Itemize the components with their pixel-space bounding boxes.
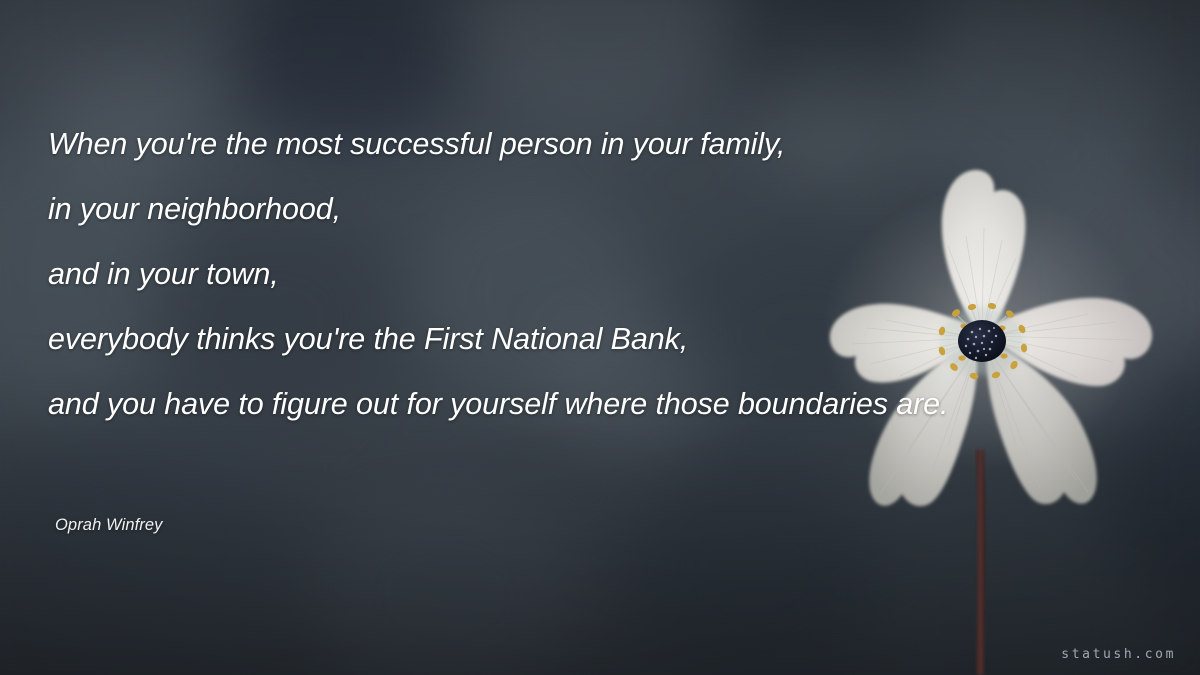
quote-card: When you're the most successful person i… (0, 0, 1200, 675)
quote-author: Oprah Winfrey (55, 516, 163, 535)
quote-line: When you're the most successful person i… (48, 112, 1168, 177)
site-watermark: statush.com (1061, 647, 1176, 662)
quote-line: everybody thinks you're the First Nation… (48, 307, 1168, 372)
quote-line: in your neighborhood, (48, 177, 1168, 242)
quote-line: and you have to figure out for yourself … (48, 372, 1168, 437)
quote-text-block: When you're the most successful person i… (48, 112, 1168, 437)
quote-line: and in your town, (48, 242, 1168, 307)
